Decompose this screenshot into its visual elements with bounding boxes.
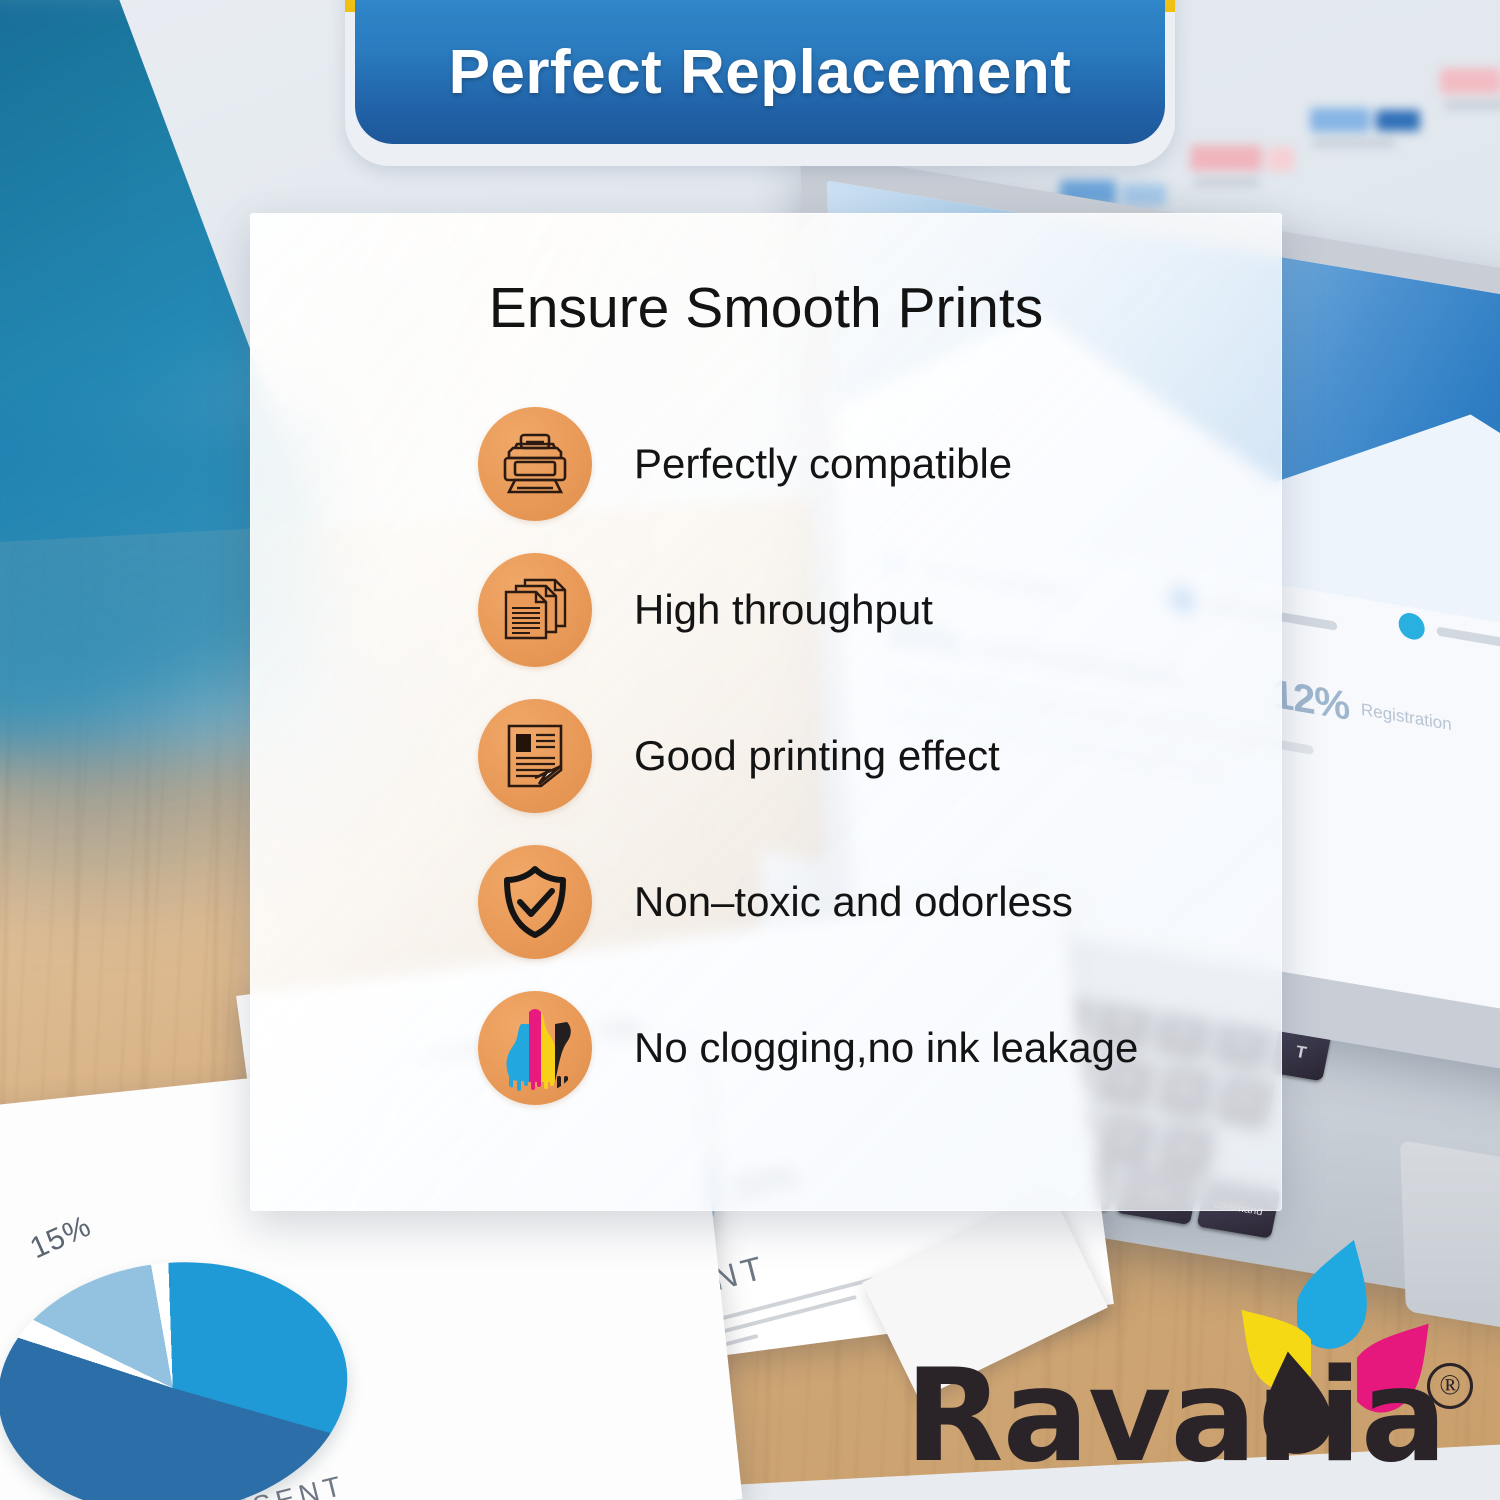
printer-icon <box>478 407 592 521</box>
feature-label: Good printing effect <box>634 732 1000 780</box>
registered-trademark-icon: ® <box>1427 1363 1473 1409</box>
feature-item: No clogging,no ink leakage <box>478 975 1278 1121</box>
feature-item: High throughput <box>478 537 1278 683</box>
documents-stack-icon <box>478 553 592 667</box>
brand-wordmark: Ravaria <box>905 1342 1446 1491</box>
brand-logo: Ravaria ® <box>905 1245 1495 1495</box>
screen-registration-label: Registration <box>1361 700 1452 735</box>
printed-page-icon <box>478 699 592 813</box>
banner-blue-plate: Perfect Replacement <box>355 0 1165 144</box>
shield-check-icon <box>478 845 592 959</box>
banner-title: Perfect Replacement <box>449 37 1072 108</box>
feature-label: Perfectly compatible <box>634 440 1012 488</box>
feature-label: Non–toxic and odorless <box>634 878 1073 926</box>
cmyk-ink-drip-icon <box>478 991 592 1105</box>
feature-panel: Ensure Smooth Prints Perfectly compatibl… <box>250 213 1282 1211</box>
pie-label-15-rear: 15% <box>25 1209 96 1266</box>
feature-item: Good printing effect <box>478 683 1278 829</box>
feature-label: No clogging,no ink leakage <box>634 1024 1138 1072</box>
panel-title: Ensure Smooth Prints <box>250 275 1282 341</box>
feature-item: Non–toxic and odorless <box>478 829 1278 975</box>
top-banner: Perfect Replacement <box>345 0 1175 166</box>
feature-list: Perfectly compatible <box>478 391 1278 1121</box>
feature-label: High throughput <box>634 586 933 634</box>
feature-item: Perfectly compatible <box>478 391 1278 537</box>
screen-stat-secondary: 12% <box>1271 672 1350 730</box>
